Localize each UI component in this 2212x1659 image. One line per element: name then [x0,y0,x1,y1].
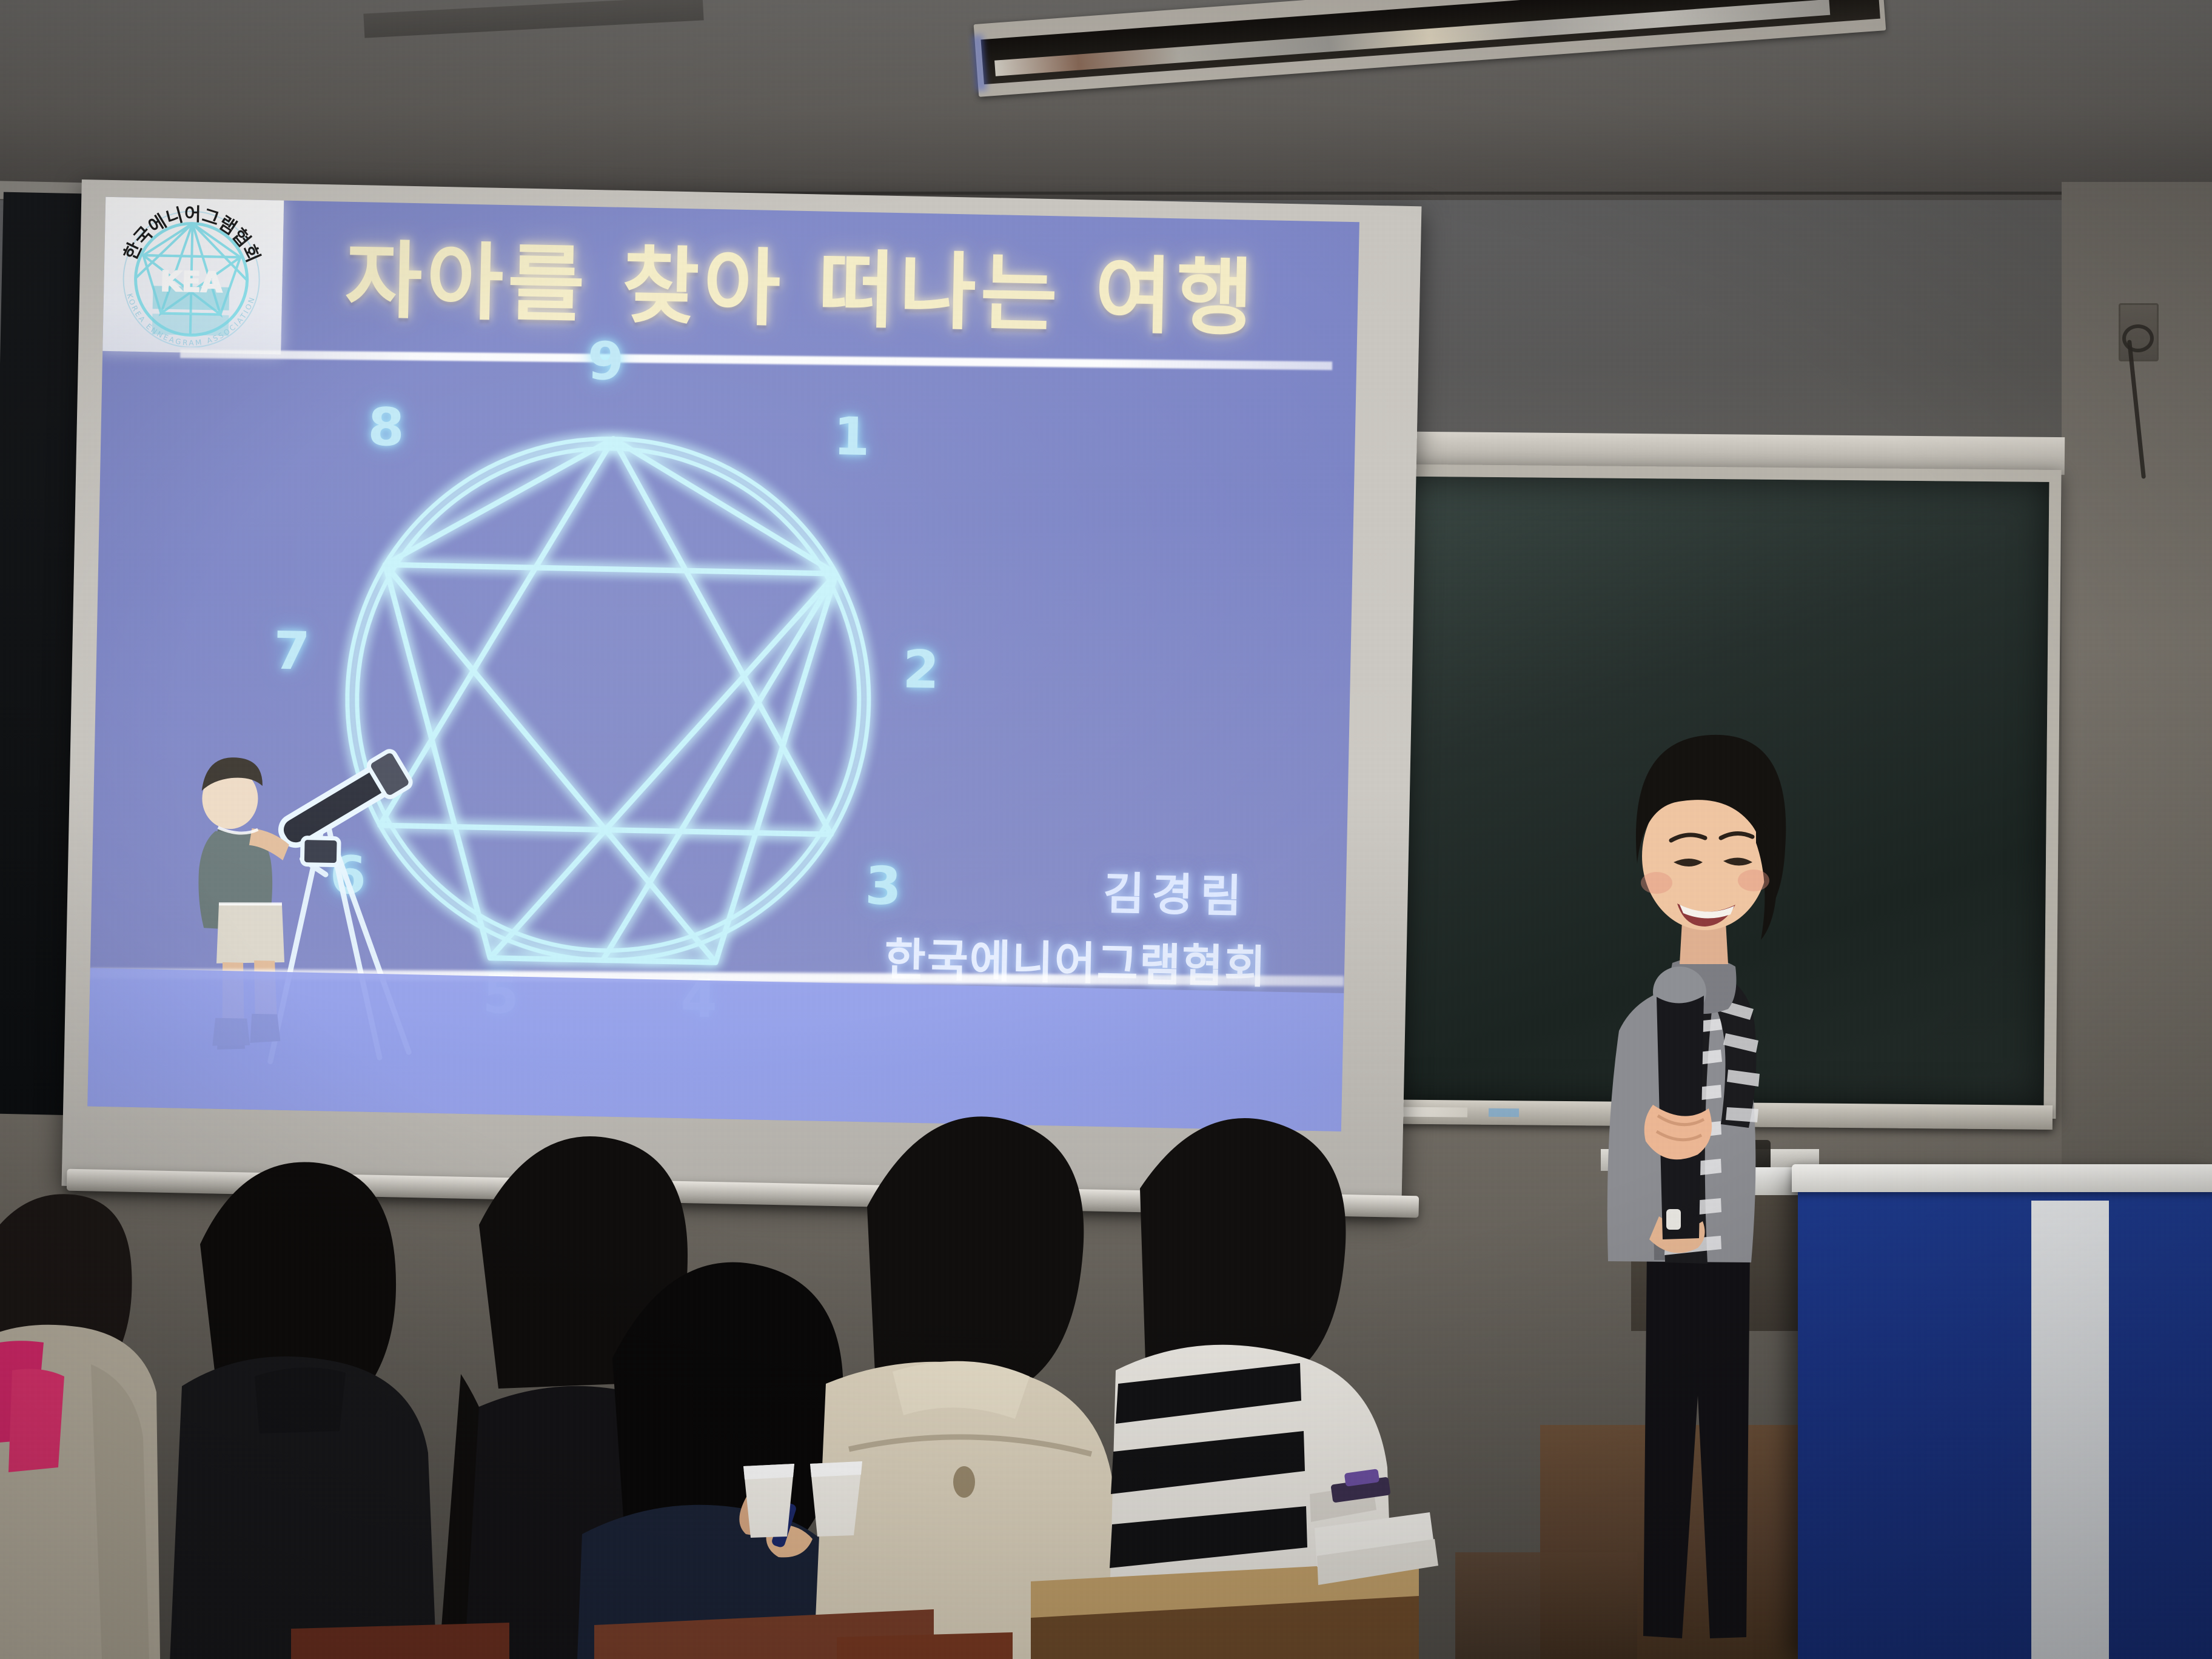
paper-cup [743,1464,794,1538]
podium-stripe [2031,1201,2109,1659]
svg-text:KEA: KEA [160,265,223,299]
title-divider [180,349,1332,370]
enneagram-label-8: 8 [367,401,405,454]
enneagram-label-2: 2 [902,643,940,696]
enneagram-label-1: 1 [833,411,871,463]
enneagram-label-3: 3 [865,860,902,913]
bottom-band [87,968,1344,1131]
presenter-figure [1528,631,1868,1659]
kea-logo: KEA 한국에니어그램협회 KOREA ENNEAGRAM ASSOCIATIO… [99,197,284,355]
presentation-slide: KEA 한국에니어그램협회 KOREA ENNEAGRAM ASSOCIATIO… [87,197,1359,1131]
audience-member [814,1116,1119,1659]
photo-scene: KEA 한국에니어그램협회 KOREA ENNEAGRAM ASSOCIATIO… [0,0,2212,1659]
paper-cup [810,1461,862,1537]
presenter [1528,631,1868,1659]
kea-logo-icon: KEA 한국에니어그램협회 KOREA ENNEAGRAM ASSOCIATIO… [114,200,269,349]
cable-loop [2122,324,2154,352]
audience [0,1110,1577,1659]
slide-title: 자아를 찾아 떠나는 여행 [285,214,1318,350]
projection-screen: KEA 한국에니어그램협회 KOREA ENNEAGRAM ASSOCIATIO… [62,179,1422,1213]
enneagram-label-7: 7 [273,625,310,678]
audience-member [170,1162,437,1659]
audience-figures [0,1110,1577,1659]
presenter-name: 김경림 [1102,857,1249,925]
enneagram-label-9: 9 [587,335,625,388]
audience-member [0,1194,160,1659]
